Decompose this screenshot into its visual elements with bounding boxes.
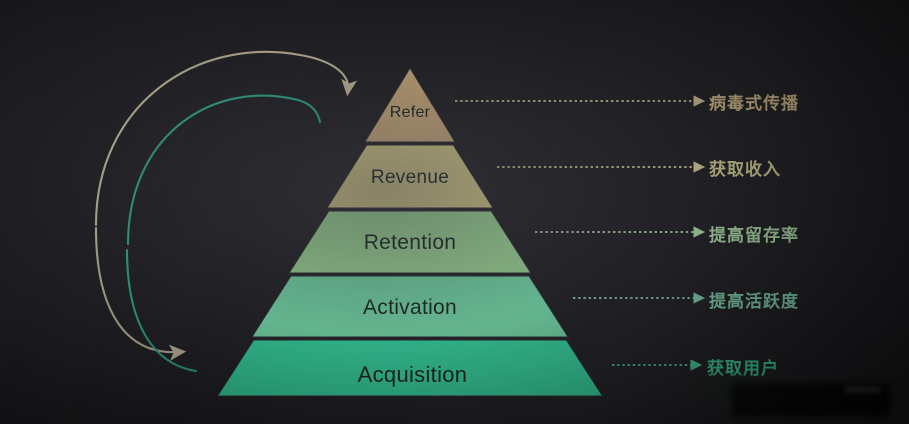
redacted-region-mark	[845, 386, 881, 393]
annotation-retention: 提高留存率	[709, 221, 799, 246]
annotation-refer: 病毒式传播	[709, 89, 799, 114]
annotation-revenue: 获取收入	[709, 155, 781, 180]
annotation-acquisition: 获取用户	[707, 354, 779, 379]
annotation-activation: 提高活跃度	[709, 287, 799, 312]
slide-canvas: Refer Revenue Retention Activation Acqui…	[0, 0, 909, 424]
